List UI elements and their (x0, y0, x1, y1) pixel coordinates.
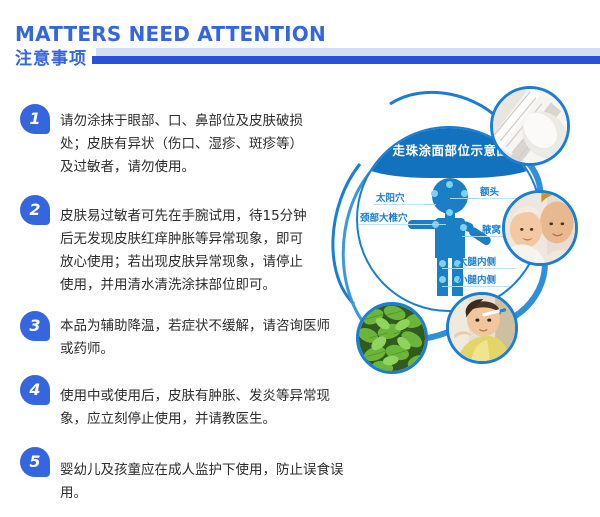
page-title-cn: 注意事项 (15, 44, 87, 69)
diagram-leader-line (442, 268, 456, 269)
note-number-badge: 3 (20, 311, 50, 341)
diagram-leader-line (430, 224, 446, 225)
illustration-group: 走珠涂面部位示意图 太阳穴 颈部大椎穴 (330, 86, 600, 416)
diagram-label-armpit: 腋窝 (482, 222, 501, 236)
diagram-leader-line (424, 204, 436, 205)
page-title-en: MATTERS NEED ATTENTION (15, 22, 326, 46)
note-text: 请勿涂抹于眼部、口、鼻部位及皮肤破损 处；皮肤有异状（伤口、湿疹、斑疹等） 及过… (60, 104, 328, 179)
acupoint-dot-temple-left (431, 190, 438, 197)
note-number-badge: 1 (20, 104, 50, 134)
photo-mint-leaves (356, 302, 428, 374)
mint-leaves-image (359, 305, 425, 371)
diagram-label-neck-dazhui: 颈部大椎穴 (360, 210, 408, 224)
note-number-badge: 4 (20, 375, 50, 405)
header-rule-solid (92, 56, 600, 64)
note-number-badge: 2 (20, 195, 50, 225)
note-number-badge: 5 (20, 447, 50, 477)
acupoint-dot-temple-right (461, 190, 468, 197)
note-text: 婴幼儿及孩童应在成人监护下使用，防止误食误 用。 (60, 447, 350, 505)
diagram-label-underline (358, 224, 430, 225)
diagram-label-underline (454, 286, 516, 287)
note-number-label: 5 (20, 447, 50, 477)
diagram-label-inner-thigh: 大腿内侧 (458, 254, 496, 268)
acupoint-dot-calf-left (439, 276, 446, 283)
photo-mother-and-baby (502, 190, 578, 266)
list-item: 5 婴幼儿及孩童应在成人监护下使用，防止误食误 用。 (0, 447, 600, 505)
note-number-label: 4 (20, 375, 50, 405)
diagram-leader-line (462, 236, 480, 237)
header-rule (92, 48, 600, 64)
note-number-label: 3 (20, 311, 50, 341)
diagram-label-temple: 太阳穴 (376, 190, 405, 204)
note-text: 使用中或使用后，皮肤有肿胀、发炎等异常现 象，应立刻停止使用，并请教医生。 (60, 375, 350, 431)
acupoint-dot-armpit-right (460, 224, 467, 231)
note-number-label: 2 (20, 195, 50, 225)
acupoint-dot-forehead (446, 181, 453, 188)
acupoint-dot-neck (446, 209, 453, 216)
diagram-label-underline (454, 268, 516, 269)
product-rollerball-image (493, 89, 567, 163)
acupoint-dot-thigh-left (439, 260, 446, 267)
diagram-label-inner-calf: 小腿内侧 (458, 272, 496, 286)
diagram-label-forehead: 额头 (480, 184, 499, 198)
photo-product-rollerball (490, 86, 570, 166)
diagram-leader-line (450, 198, 478, 199)
page-header: MATTERS NEED ATTENTION 注意事项 (0, 0, 600, 72)
note-text: 皮肤易过敏者可先在手腕试用，待15分钟 后无发现皮肤红痒肿胀等异常现象，即可 放… (60, 195, 328, 297)
header-rule-light (96, 48, 600, 56)
diagram-label-underline (374, 204, 424, 205)
mother-and-baby-image (505, 193, 575, 263)
diagram-leader-line (442, 286, 456, 287)
child-with-thermometer-image (449, 295, 515, 361)
note-number-label: 1 (20, 104, 50, 134)
photo-child-with-thermometer (446, 292, 518, 364)
note-text: 本品为辅助降温，若症状不缓解，请咨询医师 或药师。 (60, 311, 350, 361)
